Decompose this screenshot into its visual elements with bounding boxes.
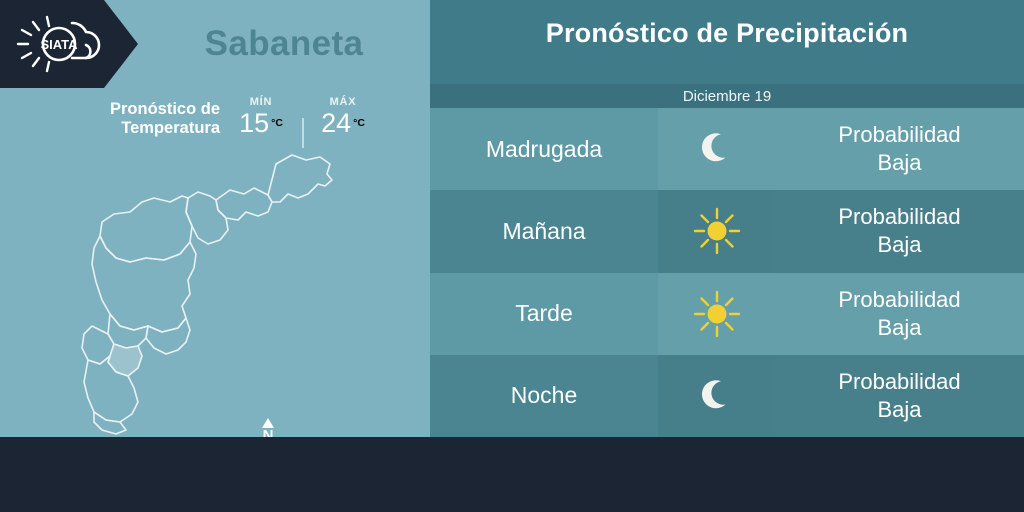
probability-line2: Baja bbox=[877, 396, 921, 424]
temperature-min-caption: MÍN bbox=[228, 96, 294, 108]
forecast-period: Madrugada bbox=[430, 108, 658, 190]
moon-icon-svg bbox=[695, 374, 739, 418]
table-row: Madrugada Probabilidad Baja bbox=[430, 108, 1024, 190]
sun-icon bbox=[658, 190, 775, 272]
right-panel: Pronóstico de Precipitación Diciembre 19… bbox=[430, 0, 1024, 437]
probability-line2: Baja bbox=[877, 314, 921, 342]
sun-icon-svg bbox=[692, 289, 742, 339]
date-band: Diciembre 19 bbox=[430, 84, 1024, 108]
footer: @siatamedellin www.siata.gov.co Con el a… bbox=[0, 437, 1024, 512]
temperature-values: MÍN 15°C MÁX 24°C bbox=[228, 96, 388, 154]
table-row: Mañana bbox=[430, 190, 1024, 272]
temperature-min-unit: °C bbox=[271, 117, 283, 129]
siata-logo-text: SIATA bbox=[40, 37, 78, 52]
probability-line2: Baja bbox=[877, 231, 921, 259]
temperature-max: MÁX 24°C bbox=[310, 96, 376, 138]
sun-icon bbox=[658, 273, 775, 355]
moon-icon-svg bbox=[695, 127, 739, 171]
temperature-label-line1: Pronóstico de bbox=[110, 100, 220, 118]
weather-infographic: SIATA Sabaneta Pronóstico de Temperatura… bbox=[0, 0, 1024, 512]
temperature-max-value: 24 bbox=[321, 108, 351, 138]
aburra-valley-map: N bbox=[30, 150, 430, 437]
forecast-period: Tarde bbox=[430, 273, 658, 355]
probability-line1: Probabilidad bbox=[838, 368, 960, 396]
precipitation-probability: Probabilidad Baja bbox=[775, 108, 1024, 190]
precipitation-title: Pronóstico de Precipitación bbox=[430, 18, 1024, 49]
forecast-date: Diciembre 19 bbox=[683, 88, 771, 105]
moon-icon bbox=[658, 355, 775, 437]
temperature-max-unit: °C bbox=[353, 117, 365, 129]
moon-icon bbox=[658, 108, 775, 190]
left-panel: SIATA Sabaneta Pronóstico de Temperatura… bbox=[0, 0, 430, 437]
table-row: Tarde bbox=[430, 273, 1024, 355]
probability-line1: Probabilidad bbox=[838, 121, 960, 149]
forecast-period: Noche bbox=[430, 355, 658, 437]
precipitation-probability: Probabilidad Baja bbox=[775, 190, 1024, 272]
probability-line2: Baja bbox=[877, 149, 921, 177]
precipitation-probability: Probabilidad Baja bbox=[775, 355, 1024, 437]
forecast-table: Madrugada Probabilidad Baja Mañana bbox=[430, 108, 1024, 437]
temperature-divider bbox=[302, 118, 304, 148]
temperature-min-value: 15 bbox=[239, 108, 269, 138]
forecast-period: Mañana bbox=[430, 190, 658, 272]
table-row: Noche Probabilidad Baja bbox=[430, 355, 1024, 437]
temperature-label-line2: Temperatura bbox=[121, 119, 220, 137]
temperature-max-caption: MÁX bbox=[310, 96, 376, 108]
probability-line1: Probabilidad bbox=[838, 286, 960, 314]
sun-icon-svg bbox=[692, 206, 742, 256]
temperature-min: MÍN 15°C bbox=[228, 96, 294, 138]
map-svg bbox=[30, 150, 430, 437]
temperature-label: Pronóstico de Temperatura bbox=[60, 100, 220, 138]
probability-line1: Probabilidad bbox=[838, 203, 960, 231]
temperature-block: Pronóstico de Temperatura MÍN 15°C MÁX 2… bbox=[60, 96, 380, 158]
sun-cloud-icon: SIATA bbox=[14, 14, 110, 74]
city-name: Sabaneta bbox=[138, 0, 430, 88]
precipitation-probability: Probabilidad Baja bbox=[775, 273, 1024, 355]
